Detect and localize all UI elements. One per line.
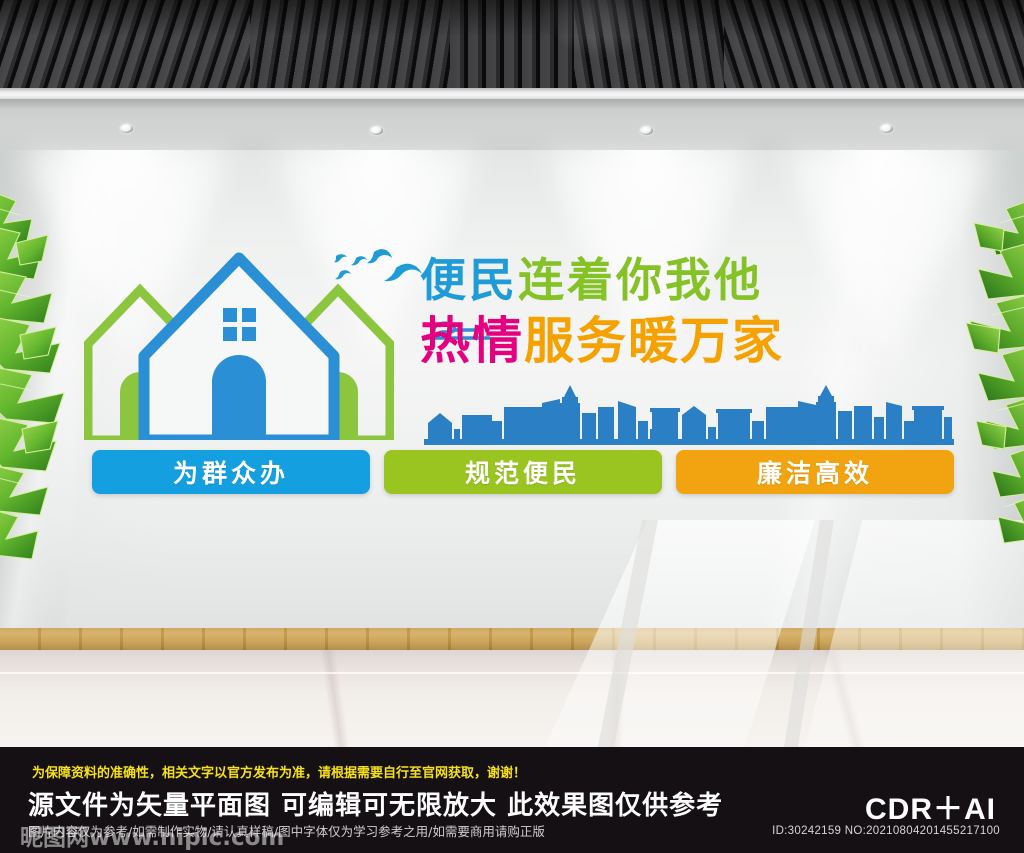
banner-notice: 为保障资料的准确性，相关文字以官方发布为准，请根据需要自行至官网获取，谢谢！	[32, 762, 526, 781]
headline-seg: 连着你我他	[518, 253, 763, 307]
soffit-shadow	[0, 99, 1024, 109]
wall-mural: 便民连着你我他 热情服务暖万家	[0, 150, 1024, 628]
banner-format-label: CDR＋AI	[865, 784, 996, 828]
headline-seg: 服务暖万家	[524, 312, 784, 370]
banner-fineprint: 图片内容仅为参考/如需制作实物/请认真样稿/图中字体仅为学习参考之用/如需要商用…	[28, 821, 545, 840]
screenshot-root: 便民连着你我他 热情服务暖万家	[0, 0, 1024, 853]
city-skyline-icon	[424, 385, 954, 445]
floor-veins	[0, 650, 1024, 747]
skirting-grain	[0, 628, 1024, 650]
banner-headline: 源文件为矢量平面图 可编辑可无限放大 此效果图仅供参考	[28, 785, 723, 822]
floor-seam	[0, 672, 1024, 674]
downlight-icon	[370, 126, 383, 135]
headline-seg: 便民	[420, 253, 518, 307]
mural-chip-row: 为群众办 规范便民 廉洁高效	[92, 450, 954, 498]
downlight-icon	[640, 126, 653, 135]
headline-line-2: 热情服务暖万家	[420, 310, 940, 372]
mural-headline: 便民连着你我他 热情服务暖万家	[420, 250, 940, 372]
chip-lian-jie-gao-xiao[interactable]: 廉洁高效	[676, 450, 954, 494]
ceiling	[0, 0, 1024, 93]
chip-gui-fan-bian-min[interactable]: 规范便民	[384, 450, 662, 494]
headline-line-1: 便民连着你我他	[420, 250, 940, 310]
chip-wei-qun-zhong-ban[interactable]: 为群众办	[92, 450, 370, 494]
ceiling-shading	[0, 0, 1024, 93]
headline-seg: 热情	[420, 312, 524, 370]
banner-id-text: ID:30242159 NO:20210804201455217100	[772, 825, 1000, 837]
downlight-icon	[120, 124, 133, 133]
downlight-icon	[880, 124, 893, 133]
bottom-info-banner: 为保障资料的准确性，相关文字以官方发布为准，请根据需要自行至官网获取，谢谢！ 源…	[0, 747, 1024, 853]
